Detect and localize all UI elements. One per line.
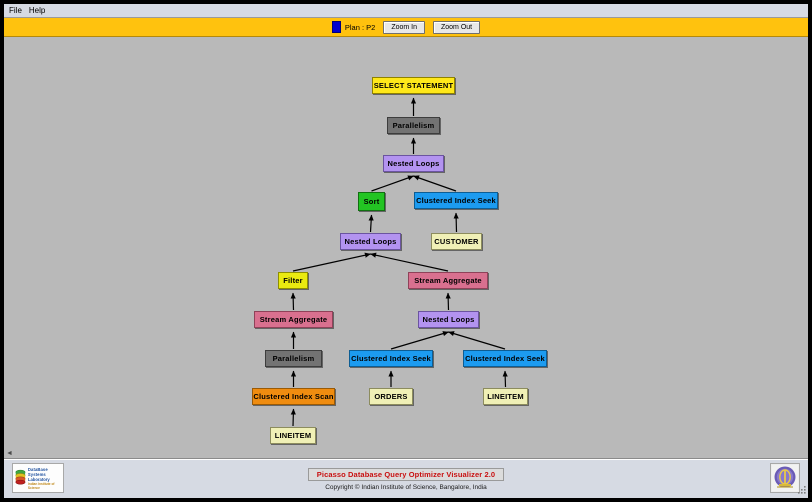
plan-tree: SELECT STATEMENTParallelismNested LoopsS… bbox=[4, 37, 808, 441]
plan-edge bbox=[414, 176, 457, 191]
menu-bar: File Help bbox=[4, 4, 808, 18]
plan-node-nested-loops[interactable]: Nested Loops bbox=[383, 155, 444, 172]
plan-edge bbox=[371, 215, 372, 232]
plan-node-label: Clustered Index Seek bbox=[465, 354, 545, 363]
plan-edge bbox=[293, 409, 294, 426]
db-stack-icon bbox=[15, 467, 26, 489]
dsl-logo-textblock: DataBase Systems Laboratory Indian Insti… bbox=[28, 467, 61, 490]
plan-edge bbox=[448, 293, 449, 310]
plan-edge bbox=[293, 293, 294, 310]
resize-grip-icon[interactable] bbox=[795, 485, 807, 497]
plan-node-filter[interactable]: Filter bbox=[278, 272, 308, 289]
plan-node-label: Sort bbox=[364, 197, 380, 206]
plan-node-lineitem[interactable]: LINEITEM bbox=[483, 388, 528, 405]
plan-edge bbox=[505, 371, 506, 387]
plan-node-nested-loops[interactable]: Nested Loops bbox=[418, 311, 479, 328]
canvas-scroll-left-icon[interactable]: ◄ bbox=[6, 450, 13, 457]
plan-edges bbox=[4, 37, 808, 441]
plan-node-clustered-index-seek[interactable]: Clustered Index Seek bbox=[349, 350, 433, 367]
plan-color-swatch bbox=[332, 21, 341, 33]
plan-node-label: Stream Aggregate bbox=[414, 276, 482, 285]
plan-node-label: Nested Loops bbox=[388, 159, 440, 168]
plan-node-orders[interactable]: ORDERS bbox=[369, 388, 413, 405]
plan-node-parallelism[interactable]: Parallelism bbox=[387, 117, 440, 134]
plan-node-clustered-index-scan[interactable]: Clustered Index Scan bbox=[252, 388, 335, 405]
plan-canvas-area[interactable]: SELECT STATEMENTParallelismNested LoopsS… bbox=[4, 37, 808, 459]
plan-edge bbox=[449, 332, 506, 349]
dsl-logo-subtitle: Indian Institute of Science bbox=[28, 482, 61, 490]
plan-node-label: Stream Aggregate bbox=[260, 315, 328, 324]
plan-node-label: Nested Loops bbox=[345, 237, 397, 246]
plan-edge bbox=[372, 176, 414, 191]
plan-node-stream-aggregate[interactable]: Stream Aggregate bbox=[254, 311, 333, 328]
plan-node-label: Parallelism bbox=[273, 354, 315, 363]
menu-item-help[interactable]: Help bbox=[27, 5, 50, 17]
zoom-out-button[interactable]: Zoom Out bbox=[433, 21, 480, 34]
plan-edge bbox=[371, 254, 449, 271]
plan-node-select-statement[interactable]: SELECT STATEMENT bbox=[372, 77, 455, 94]
plan-node-label: Parallelism bbox=[393, 121, 435, 130]
plan-node-label: Nested Loops bbox=[423, 315, 475, 324]
plan-node-label: Filter bbox=[283, 276, 303, 285]
plan-node-parallelism[interactable]: Parallelism bbox=[265, 350, 322, 367]
plan-node-label: Clustered Index Seek bbox=[416, 196, 496, 205]
plan-edge bbox=[293, 254, 371, 271]
plan-node-nested-loops[interactable]: Nested Loops bbox=[340, 233, 401, 250]
plan-node-label: SELECT STATEMENT bbox=[374, 81, 454, 90]
toolbar: Plan : P2 Zoom In Zoom Out bbox=[4, 18, 808, 37]
plan-label: Plan : P2 bbox=[345, 23, 375, 32]
app-title: Picasso Database Query Optimizer Visuali… bbox=[308, 468, 504, 481]
plan-node-stream-aggregate[interactable]: Stream Aggregate bbox=[408, 272, 488, 289]
plan-node-clustered-index-seek[interactable]: Clustered Index Seek bbox=[463, 350, 547, 367]
copyright-text: Copyright © Indian Institute of Science,… bbox=[325, 484, 487, 491]
plan-node-lineitem[interactable]: LINEITEM bbox=[270, 427, 316, 444]
plan-edge bbox=[391, 332, 449, 349]
plan-node-label: LINEITEM bbox=[487, 392, 524, 401]
menu-item-file[interactable]: File bbox=[7, 5, 27, 17]
footer-bar: DataBase Systems Laboratory Indian Insti… bbox=[4, 459, 808, 498]
plan-node-customer[interactable]: CUSTOMER bbox=[431, 233, 482, 250]
plan-node-label: ORDERS bbox=[374, 392, 407, 401]
plan-node-label: Clustered Index Scan bbox=[253, 392, 333, 401]
plan-edge bbox=[456, 213, 457, 232]
zoom-in-button[interactable]: Zoom In bbox=[383, 21, 425, 34]
picasso-main-window: File Help Plan : P2 Zoom In Zoom Out SEL… bbox=[3, 3, 809, 499]
plan-node-label: LINEITEM bbox=[275, 431, 312, 440]
plan-indicator: Plan : P2 bbox=[332, 21, 375, 33]
footer-center-block: Picasso Database Query Optimizer Visuali… bbox=[308, 468, 504, 491]
plan-node-clustered-index-seek[interactable]: Clustered Index Seek bbox=[414, 192, 498, 209]
plan-node-label: Clustered Index Seek bbox=[351, 354, 431, 363]
plan-node-label: CUSTOMER bbox=[434, 237, 478, 246]
database-systems-lab-logo: DataBase Systems Laboratory Indian Insti… bbox=[12, 463, 64, 493]
plan-node-sort[interactable]: Sort bbox=[358, 192, 385, 211]
